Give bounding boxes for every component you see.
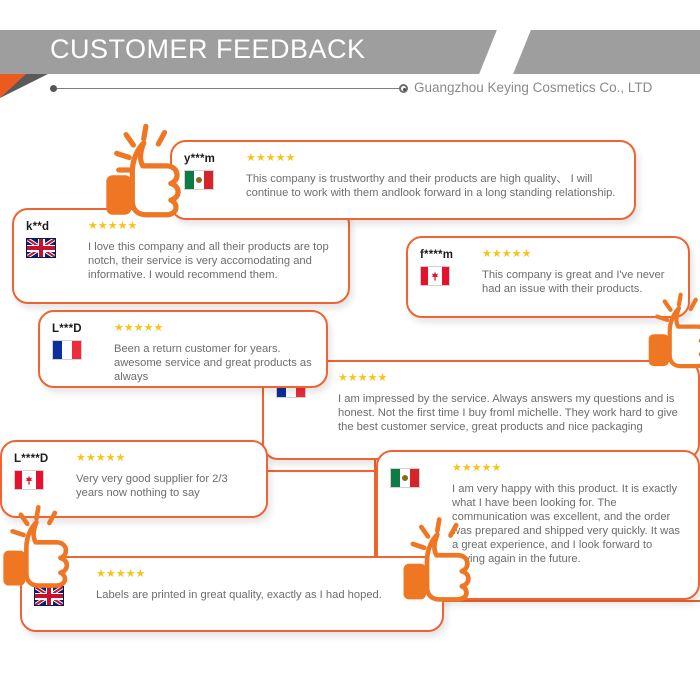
thumbs-up-icon	[642, 288, 700, 372]
rating-stars: ★★★★★	[452, 462, 684, 476]
reviewer-username: k**d	[26, 221, 49, 233]
connector-line	[258, 470, 388, 472]
review-card[interactable]: L***D ★★★★★ Been a return customer for y…	[38, 310, 328, 388]
flag-france	[52, 340, 82, 360]
review-text: I love this company and all their produc…	[88, 240, 334, 282]
review-card[interactable]: k**d ★★★★★ I love this company and all t…	[12, 208, 350, 304]
reviewer-identity: L***D	[52, 322, 110, 360]
review-text: Been a return customer for years. awesom…	[114, 342, 312, 384]
flag-canada	[14, 470, 44, 490]
reviewer-identity: k**d	[26, 220, 84, 258]
flag-united-kingdom	[26, 238, 56, 258]
rating-stars: ★★★★★	[482, 248, 674, 262]
rating-stars: ★★★★★	[246, 152, 620, 166]
review-text: Very very good supplier for 2/3 years no…	[76, 472, 252, 500]
rating-stars: ★★★★★	[88, 220, 334, 234]
reviewer-identity	[390, 462, 448, 488]
thumbs-up-icon	[98, 118, 202, 222]
company-name: Guangzhou Keying Cosmetics Co., LTD	[414, 80, 652, 95]
page-title: CUSTOMER FEEDBACK	[50, 34, 366, 65]
reviewer-identity: L****D	[14, 452, 72, 490]
rating-stars: ★★★★★	[96, 568, 428, 582]
flag-canada	[420, 266, 450, 286]
thumbs-up-icon	[0, 500, 88, 592]
header-triangle-orange	[0, 74, 26, 98]
flag-mexico	[390, 468, 420, 488]
reviewer-identity: f****m	[420, 248, 478, 286]
review-card[interactable]: y***m ★★★★★ This company is trustworthy …	[170, 140, 636, 220]
target-icon	[399, 84, 408, 93]
reviewer-username: L****D	[14, 453, 48, 465]
review-text: This company is trustworthy and their pr…	[246, 172, 620, 200]
thumbs-up-icon	[396, 512, 490, 606]
review-text: I am impressed by the service. Always an…	[338, 392, 684, 434]
rating-stars: ★★★★★	[338, 372, 684, 386]
rating-stars: ★★★★★	[114, 322, 312, 336]
header-divider-line	[54, 88, 402, 89]
reviewer-username: f****m	[420, 249, 453, 261]
rating-stars: ★★★★★	[76, 452, 252, 466]
reviewer-username: L***D	[52, 323, 82, 335]
review-text: Labels are printed in great quality, exa…	[96, 588, 428, 602]
header-dot	[50, 85, 57, 92]
customer-feedback-page: CUSTOMER FEEDBACK Guangzhou Keying Cosme…	[0, 0, 700, 700]
